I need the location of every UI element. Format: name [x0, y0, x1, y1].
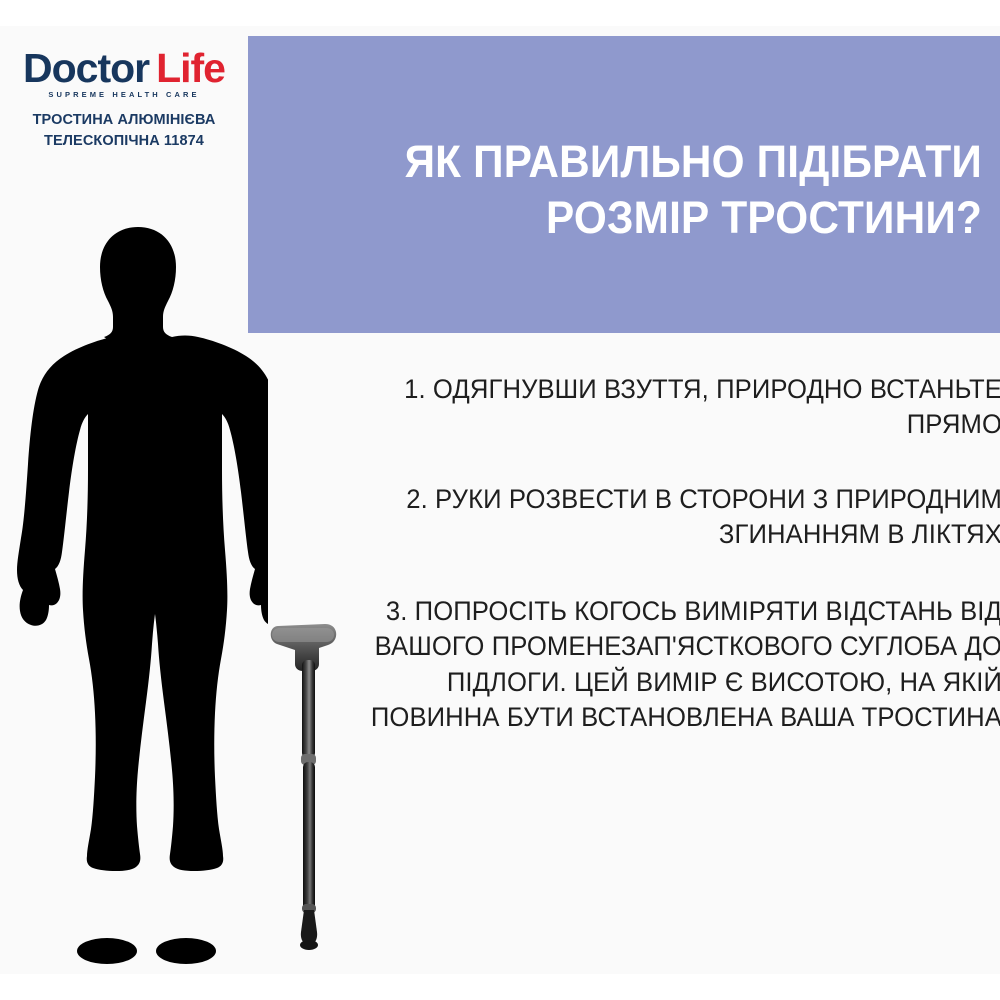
instruction-step-1: 1. ОДЯГНУВШИ ВЗУТТЯ, ПРИРОДНО ВСТАНЬТЕ П…: [364, 372, 1000, 442]
instruction-step-2: 2. РУКИ РОЗВЕСТИ В СТОРОНИ З ПРИРОДНИМ З…: [364, 482, 1000, 552]
brand-word-life: Life: [156, 45, 225, 91]
instruction-list: 1. ОДЯГНУВШИ ВЗУТТЯ, ПРИРОДНО ВСТАНЬТЕ П…: [330, 372, 1000, 735]
page-title-line-2: РОЗМІР ТРОСТИНИ?: [309, 190, 982, 246]
title-panel: ЯК ПРАВИЛЬНО ПІДІБРАТИ РОЗМІР ТРОСТИНИ?: [248, 36, 1000, 333]
product-name-line-1: ТРОСТИНА АЛЮМІНІЄВА: [0, 110, 248, 131]
page-title-line-1: ЯК ПРАВИЛЬНО ПІДІБРАТИ: [309, 134, 982, 190]
instruction-step-3: 3. ПОПРОСІТЬ КОГОСЬ ВИМІРЯТИ ВІДСТАНЬ ВІ…: [364, 594, 1000, 734]
standing-person-silhouette-icon: [8, 225, 268, 965]
brand-word-doctor: Doctor: [23, 45, 149, 91]
brand-logo-block: DoctorLife SUPREME HEALTH CARE ТРОСТИНА …: [0, 48, 248, 151]
page-title: ЯК ПРАВИЛЬНО ПІДІБРАТИ РОЗМІР ТРОСТИНИ?: [309, 134, 982, 246]
infographic-canvas: DoctorLife SUPREME HEALTH CARE ТРОСТИНА …: [0, 0, 1000, 1000]
telescopic-walking-cane-icon: [248, 612, 358, 962]
product-name-line-2: ТЕЛЕСКОПІЧНА 11874: [0, 131, 248, 152]
brand-tagline: SUPREME HEALTH CARE: [0, 90, 248, 99]
brand-wordmark: DoctorLife: [0, 48, 248, 89]
